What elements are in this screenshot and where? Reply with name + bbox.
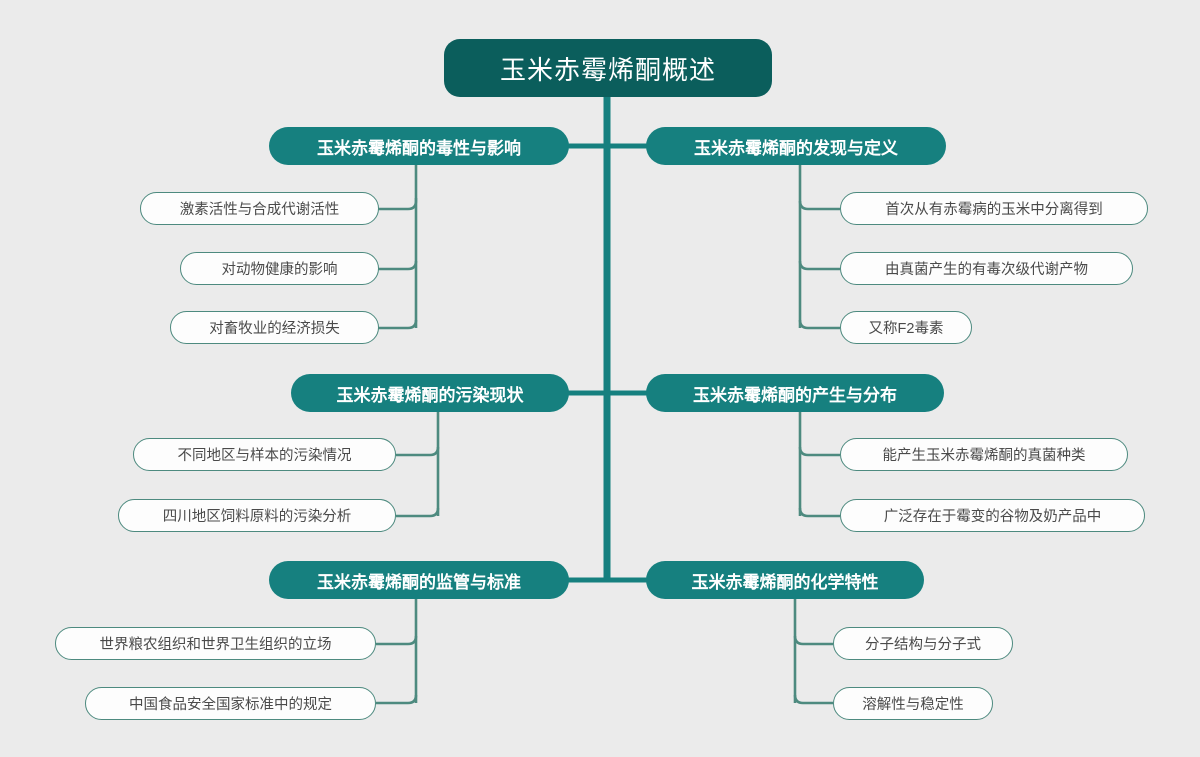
leaf-node-label: 溶解性与稳定性 <box>862 693 964 714</box>
elbow-regulation-1 <box>376 636 416 644</box>
elbow-contamination-2 <box>396 508 438 516</box>
leaf-node-contamination-1[interactable]: 不同地区与样本的污染情况 <box>133 438 396 471</box>
elbow-contamination-1 <box>396 447 438 455</box>
leaf-node-label: 分子结构与分子式 <box>865 633 981 654</box>
branch-node-toxicity[interactable]: 玉米赤霉烯酮的毒性与影响 <box>269 127 569 165</box>
elbow-discovery-2 <box>800 261 840 269</box>
leaf-node-chemistry-1[interactable]: 分子结构与分子式 <box>833 627 1013 660</box>
elbow-chemistry-1 <box>795 636 833 644</box>
leaf-node-chemistry-2[interactable]: 溶解性与稳定性 <box>833 687 993 720</box>
branch-node-chemistry[interactable]: 玉米赤霉烯酮的化学特性 <box>646 561 924 599</box>
leaf-node-label: 对动物健康的影响 <box>222 258 338 279</box>
leaf-node-toxicity-3[interactable]: 对畜牧业的经济损失 <box>170 311 379 344</box>
root-node-label: 玉米赤霉烯酮概述 <box>500 50 716 87</box>
leaf-node-label: 由真菌产生的有毒次级代谢产物 <box>885 258 1088 279</box>
elbow-toxicity-3 <box>378 320 416 328</box>
leaf-node-toxicity-2[interactable]: 对动物健康的影响 <box>180 252 379 285</box>
elbow-chemistry-2 <box>795 695 833 703</box>
leaf-node-discovery-2[interactable]: 由真菌产生的有毒次级代谢产物 <box>840 252 1133 285</box>
leaf-node-label: 首次从有赤霉病的玉米中分离得到 <box>885 198 1103 219</box>
branch-node-contamination[interactable]: 玉米赤霉烯酮的污染现状 <box>291 374 569 412</box>
mindmap-canvas: 玉米赤霉烯酮概述 玉米赤霉烯酮的毒性与影响 激素活性与合成代谢活性 对动物健康的… <box>0 0 1200 757</box>
root-node[interactable]: 玉米赤霉烯酮概述 <box>444 39 772 97</box>
leaf-node-contamination-2[interactable]: 四川地区饲料原料的污染分析 <box>118 499 396 532</box>
branch-node-label: 玉米赤霉烯酮的毒性与影响 <box>317 134 521 159</box>
branch-node-label: 玉米赤霉烯酮的化学特性 <box>692 568 879 593</box>
elbow-production-2 <box>800 508 840 516</box>
elbow-regulation-2 <box>376 695 416 703</box>
leaf-node-regulation-1[interactable]: 世界粮农组织和世界卫生组织的立场 <box>55 627 376 660</box>
leaf-node-label: 四川地区饲料原料的污染分析 <box>163 505 352 526</box>
leaf-node-regulation-2[interactable]: 中国食品安全国家标准中的规定 <box>85 687 376 720</box>
branch-node-label: 玉米赤霉烯酮的发现与定义 <box>694 134 898 159</box>
leaf-node-label: 广泛存在于霉变的谷物及奶产品中 <box>884 505 1102 526</box>
branch-node-label: 玉米赤霉烯酮的产生与分布 <box>693 381 897 406</box>
leaf-node-label: 激素活性与合成代谢活性 <box>180 198 340 219</box>
leaf-node-label: 又称F2毒素 <box>869 317 944 338</box>
branch-node-label: 玉米赤霉烯酮的监管与标准 <box>317 568 521 593</box>
elbow-toxicity-1 <box>378 198 416 209</box>
branch-node-discovery[interactable]: 玉米赤霉烯酮的发现与定义 <box>646 127 946 165</box>
leaf-node-label: 世界粮农组织和世界卫生组织的立场 <box>100 633 332 654</box>
branch-node-regulation[interactable]: 玉米赤霉烯酮的监管与标准 <box>269 561 569 599</box>
branch-node-production[interactable]: 玉米赤霉烯酮的产生与分布 <box>646 374 944 412</box>
elbow-toxicity-2 <box>378 261 416 269</box>
leaf-node-label: 对畜牧业的经济损失 <box>209 317 340 338</box>
leaf-node-toxicity-1[interactable]: 激素活性与合成代谢活性 <box>140 192 379 225</box>
elbow-discovery-1 <box>800 201 840 209</box>
elbow-discovery-3 <box>800 320 840 328</box>
leaf-node-production-1[interactable]: 能产生玉米赤霉烯酮的真菌种类 <box>840 438 1128 471</box>
branch-node-label: 玉米赤霉烯酮的污染现状 <box>337 381 524 406</box>
leaf-node-production-2[interactable]: 广泛存在于霉变的谷物及奶产品中 <box>840 499 1145 532</box>
leaf-node-label: 能产生玉米赤霉烯酮的真菌种类 <box>883 444 1086 465</box>
leaf-node-discovery-1[interactable]: 首次从有赤霉病的玉米中分离得到 <box>840 192 1148 225</box>
elbow-production-1 <box>800 447 840 455</box>
leaf-node-discovery-3[interactable]: 又称F2毒素 <box>840 311 972 344</box>
leaf-node-label: 中国食品安全国家标准中的规定 <box>129 693 332 714</box>
leaf-node-label: 不同地区与样本的污染情况 <box>178 444 352 465</box>
